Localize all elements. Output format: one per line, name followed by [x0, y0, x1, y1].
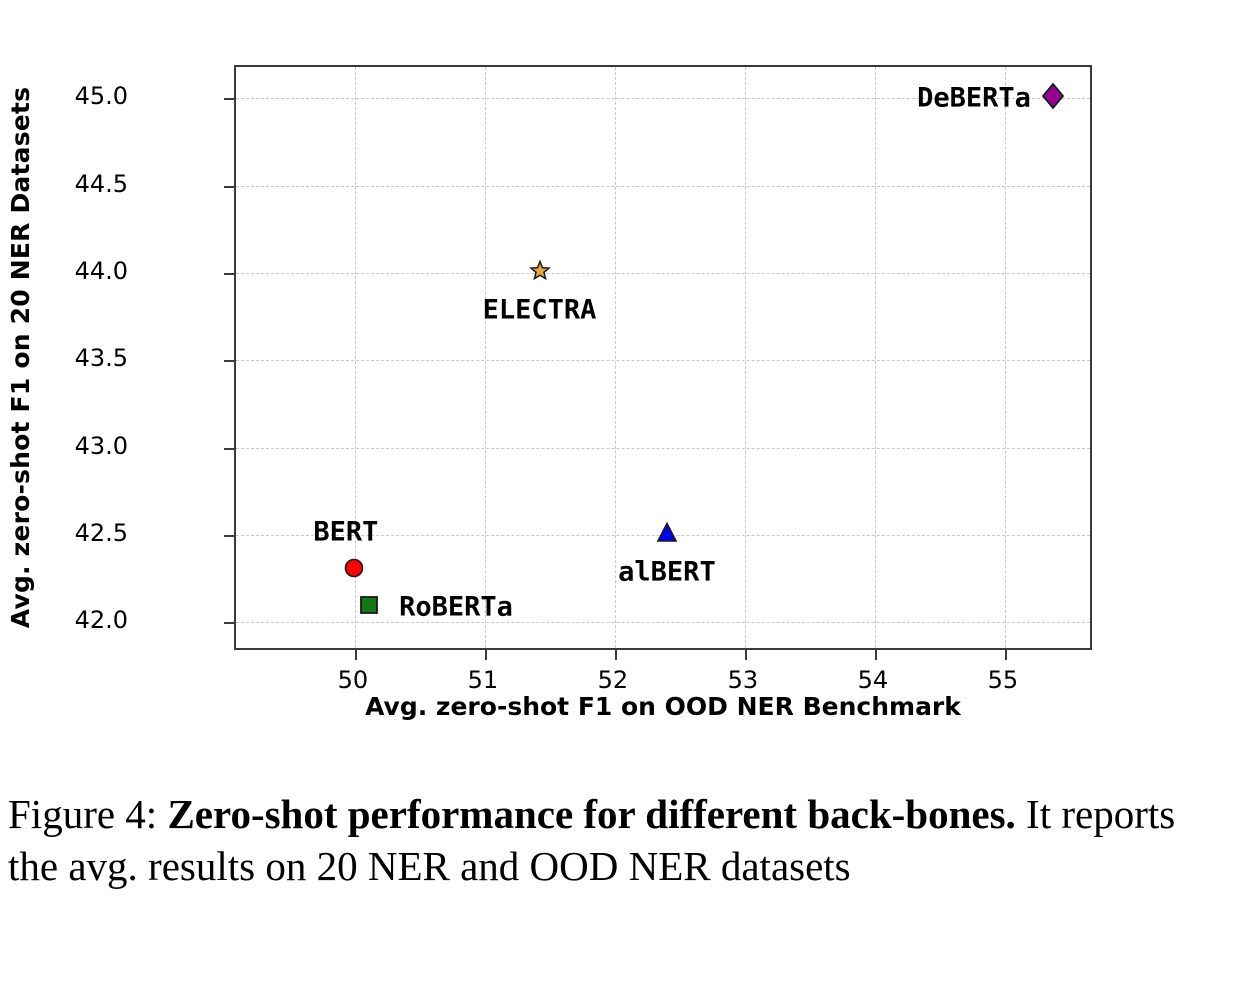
- x-tick-label: 52: [573, 666, 653, 694]
- data-point-label-electra: ELECTRA: [483, 294, 597, 325]
- data-point-deberta[interactable]: [1038, 81, 1068, 115]
- data-point-electra[interactable]: [525, 256, 555, 290]
- y-tick-mark: [224, 448, 235, 450]
- x-tick-label: 55: [963, 666, 1043, 694]
- x-tick-mark: [615, 649, 617, 660]
- data-point-label-deberta: DeBERTa: [917, 83, 1031, 114]
- x-tick-label: 53: [703, 666, 783, 694]
- gridline-horizontal: [236, 186, 1090, 187]
- y-tick-mark: [224, 535, 235, 537]
- gridline-horizontal: [236, 273, 1090, 274]
- y-tick-mark: [224, 273, 235, 275]
- gridline-vertical: [745, 67, 746, 648]
- gridline-vertical: [615, 67, 616, 648]
- caption-prefix: Figure 4:: [8, 791, 167, 837]
- y-tick-mark: [224, 360, 235, 362]
- caption-bold: Zero-shot performance for different back…: [167, 791, 1015, 837]
- gridline-vertical: [875, 67, 876, 648]
- data-point-bert[interactable]: [339, 553, 369, 587]
- data-point-albert[interactable]: [652, 518, 682, 552]
- x-tick-mark: [485, 649, 487, 660]
- figure-caption: Figure 4: Zero-shot performance for diff…: [8, 788, 1232, 893]
- y-tick-label: 43.0: [38, 432, 128, 460]
- data-point-roberta[interactable]: [354, 590, 384, 624]
- data-point-label-bert: BERT: [313, 516, 378, 547]
- gridline-vertical: [485, 67, 486, 648]
- y-tick-mark: [224, 622, 235, 624]
- y-tick-mark: [224, 98, 235, 100]
- y-axis-title: Avg. zero-shot F1 on 20 NER Datasets: [0, 65, 40, 650]
- gridline-horizontal: [236, 448, 1090, 449]
- x-tick-mark: [745, 649, 747, 660]
- x-tick-label: 50: [313, 666, 393, 694]
- gridline-vertical: [1005, 67, 1006, 648]
- x-tick-mark: [1005, 649, 1007, 660]
- gridline-horizontal: [236, 360, 1090, 361]
- y-tick-label: 44.5: [38, 170, 128, 198]
- y-tick-mark: [224, 186, 235, 188]
- y-tick-label: 42.0: [38, 606, 128, 634]
- x-tick-label: 51: [443, 666, 523, 694]
- plot-area: BERTRoBERTaalBERTELECTRADeBERTa: [234, 65, 1092, 650]
- x-tick-mark: [875, 649, 877, 660]
- data-point-label-roberta: RoBERTa: [399, 591, 513, 622]
- y-tick-label: 45.0: [38, 82, 128, 110]
- figure-container: Avg. zero-shot F1 on 20 NER Datasets 42.…: [0, 0, 1236, 780]
- x-tick-mark: [355, 649, 357, 660]
- data-point-label-albert: alBERT: [618, 556, 716, 587]
- y-tick-label: 42.5: [38, 519, 128, 547]
- y-tick-label: 44.0: [38, 257, 128, 285]
- x-tick-label: 54: [833, 666, 913, 694]
- x-axis-title: Avg. zero-shot F1 on OOD NER Benchmark: [234, 692, 1092, 721]
- y-tick-label: 43.5: [38, 344, 128, 372]
